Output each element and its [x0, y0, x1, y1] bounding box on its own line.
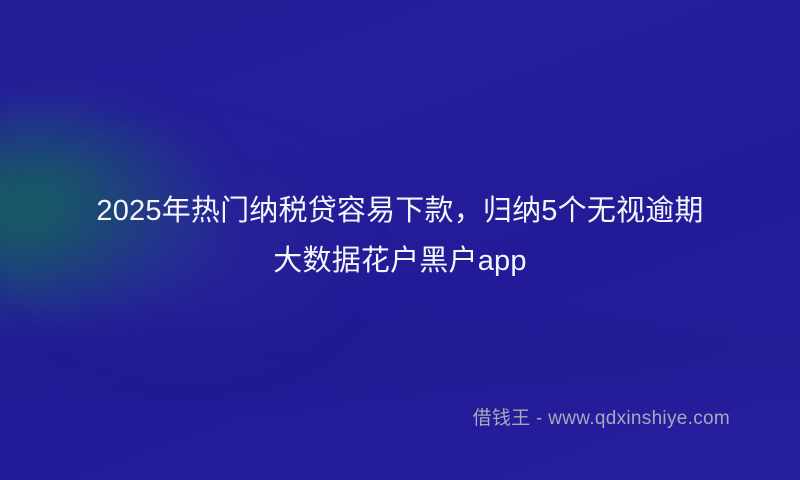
watermark-text: 借钱王 - www.qdxinshiye.com [473, 406, 730, 432]
background-band-decoration [0, 300, 800, 420]
promo-banner: 2025年热门纳税贷容易下款，归纳5个无视逾期 大数据花户黑户app 借钱王 -… [0, 0, 800, 480]
headline-text: 2025年热门纳税贷容易下款，归纳5个无视逾期 大数据花户黑户app [0, 186, 800, 286]
